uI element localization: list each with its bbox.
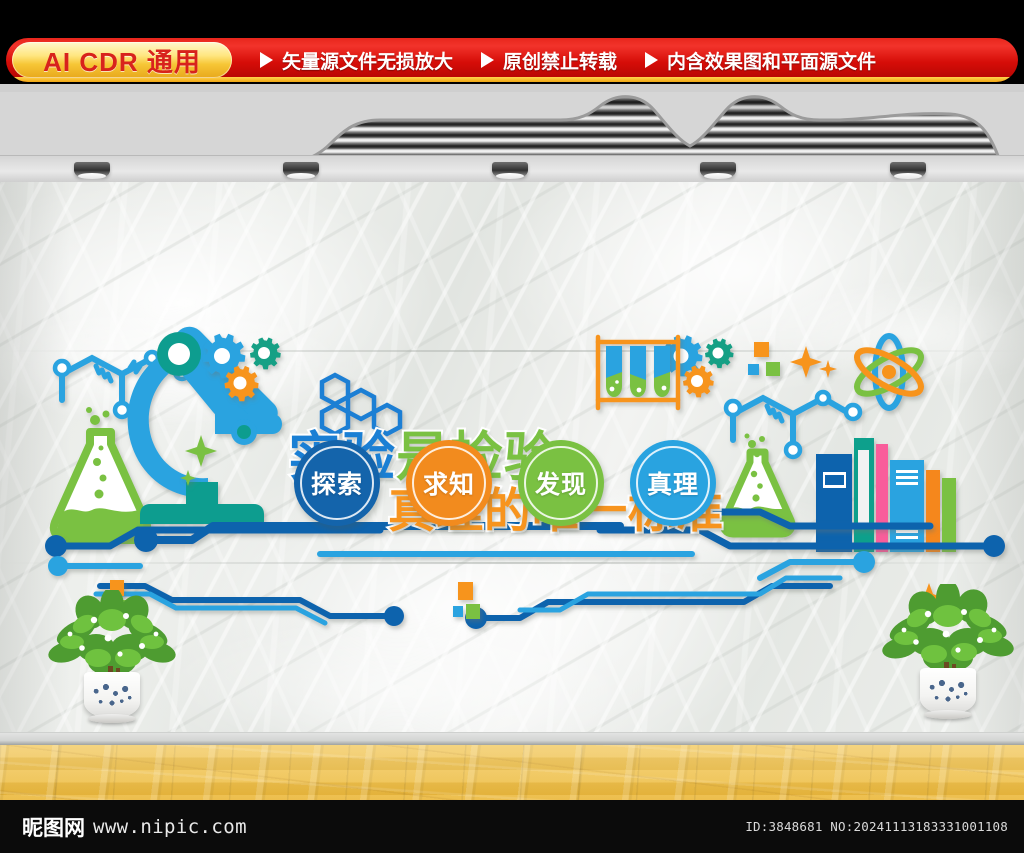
spotlight-1 bbox=[74, 162, 110, 177]
play-triangle-icon bbox=[645, 52, 658, 68]
spotlight-2 bbox=[283, 162, 319, 177]
gear-icon-teal-2 bbox=[705, 338, 734, 368]
keyword-circle-faxian[interactable]: 发现 bbox=[518, 440, 604, 526]
keyword-circle-label: 发现 bbox=[535, 465, 587, 501]
molecule-icon-right bbox=[726, 392, 860, 457]
room-mockup-scene: 实验是检验 真理的唯一标准 探索 求知 发现 真理 bbox=[0, 84, 1024, 800]
keyword-circle-label: 探索 bbox=[311, 465, 363, 501]
promo-banner: AI CDR 通用 矢量源文件无损放大 原创禁止转载 内含效果图和平面源文件 bbox=[0, 36, 1024, 84]
gear-icon-teal bbox=[250, 337, 281, 369]
site-url: www.nipic.com bbox=[93, 816, 247, 838]
promo-item-1: 矢量源文件无损放大 bbox=[246, 47, 467, 74]
format-badge-label: AI CDR 通用 bbox=[43, 42, 201, 79]
potted-plant-right bbox=[874, 584, 1022, 700]
potted-plant-left bbox=[38, 590, 186, 700]
pot-floral-pattern bbox=[90, 680, 134, 712]
square-dots-icon-right bbox=[748, 342, 780, 376]
promo-item-2-label: 原创禁止转载 bbox=[503, 47, 617, 74]
pot-saucer-left bbox=[88, 714, 136, 723]
promo-item-2: 原创禁止转载 bbox=[467, 47, 631, 74]
ceiling bbox=[0, 84, 1024, 161]
promo-item-1-label: 矢量源文件无损放大 bbox=[282, 47, 453, 74]
ceiling-soffit-icon bbox=[0, 84, 1024, 161]
floor-sheen bbox=[0, 745, 1024, 800]
square-dots-icon-2 bbox=[453, 582, 480, 619]
spotlight-5 bbox=[890, 162, 926, 177]
format-badge: AI CDR 通用 bbox=[12, 42, 232, 78]
watermark-bar: 昵图网 www.nipic.com ID:3848681 NO:20241113… bbox=[0, 800, 1024, 853]
sparkle-icon-orange bbox=[790, 346, 837, 378]
promo-item-3: 内含效果图和平面源文件 bbox=[631, 47, 890, 74]
spotlight-3 bbox=[492, 162, 528, 177]
books-icon bbox=[816, 438, 956, 552]
pot-saucer-right bbox=[924, 710, 972, 719]
keyword-circle-zhenli[interactable]: 真理 bbox=[630, 440, 716, 526]
keyword-circle-label: 真理 bbox=[647, 465, 699, 501]
wood-floor bbox=[0, 745, 1024, 800]
keyword-circle-tansuo[interactable]: 探索 bbox=[294, 440, 380, 526]
play-triangle-icon bbox=[260, 52, 273, 68]
screenshot-root: AI CDR 通用 矢量源文件无损放大 原创禁止转载 内含效果图和平面源文件 bbox=[0, 0, 1024, 853]
wall-baseboard bbox=[0, 732, 1024, 745]
promo-items: 矢量源文件无损放大 原创禁止转载 内含效果图和平面源文件 bbox=[232, 47, 1018, 74]
plant-pot-left bbox=[84, 672, 140, 718]
asset-id-text: ID:3848681 NO:20241113183331001108 bbox=[745, 819, 1008, 834]
play-triangle-icon bbox=[481, 52, 494, 68]
spotlight-4 bbox=[700, 162, 736, 177]
site-logo: 昵图网 www.nipic.com bbox=[22, 812, 247, 842]
plant-pot-right bbox=[920, 668, 976, 714]
atom-icon bbox=[851, 336, 927, 408]
keyword-circle-label: 求知 bbox=[423, 465, 475, 501]
keyword-circle-qiuzhi[interactable]: 求知 bbox=[406, 440, 492, 526]
test-tube-rack-icon bbox=[598, 337, 678, 408]
site-name-cn: 昵图网 bbox=[22, 812, 85, 842]
promo-item-3-label: 内含效果图和平面源文件 bbox=[667, 47, 876, 74]
pot-floral-pattern bbox=[926, 676, 970, 708]
promo-banner-inner: AI CDR 通用 矢量源文件无损放大 原创禁止转载 内含效果图和平面源文件 bbox=[6, 38, 1018, 82]
